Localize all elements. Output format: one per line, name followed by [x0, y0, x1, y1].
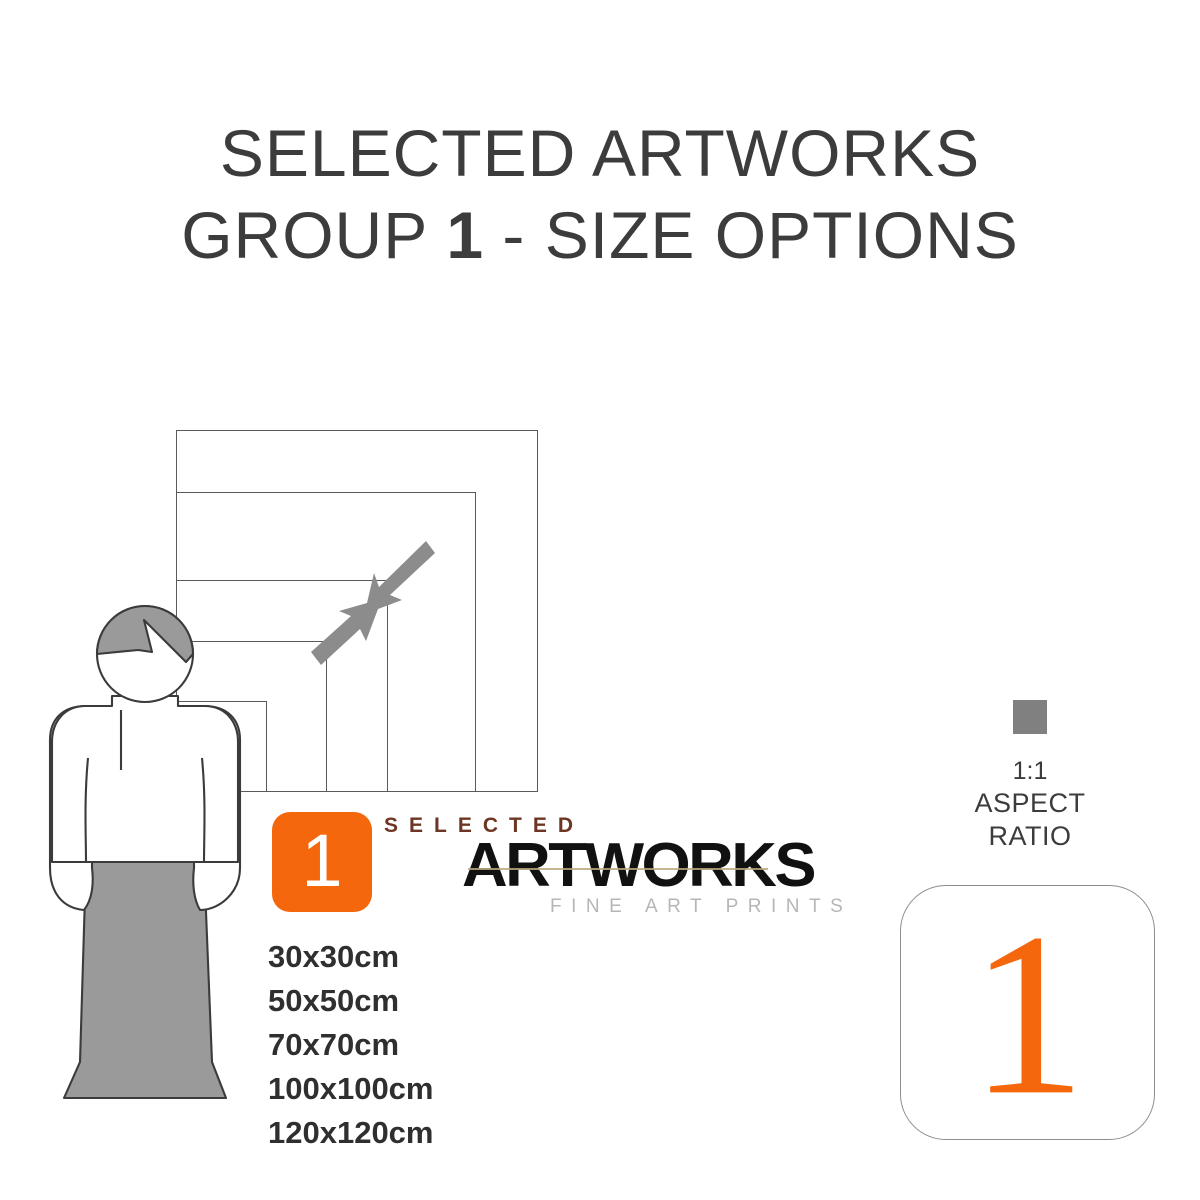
wordmark-strike-line: [468, 868, 768, 870]
size-option-item: 70x70cm: [268, 1023, 598, 1067]
page-title: SELECTED ARTWORKS GROUP 1 - SIZE OPTIONS: [0, 112, 1200, 276]
title-group-suffix: - SIZE OPTIONS: [483, 198, 1019, 272]
aspect-ratio-block: 1:1 ASPECT RATIO: [930, 700, 1130, 853]
figure-torso: [52, 696, 238, 862]
brand-wordmark: SELECTED ARTWORKS FINE ART PRINTS: [380, 810, 830, 930]
group-number-card: 1: [900, 885, 1155, 1140]
group-number-text: 1: [970, 886, 1087, 1139]
wordmark-artworks: ARTWORKS: [462, 830, 814, 901]
title-group-prefix: GROUP: [181, 198, 446, 272]
brand-logo-row: 1 SELECTED ARTWORKS FINE ART PRINTS: [272, 810, 832, 930]
aspect-ratio-value: 1:1: [930, 756, 1130, 787]
size-option-item: 50x50cm: [268, 979, 598, 1023]
group-badge-number: 1: [272, 812, 372, 912]
title-line-2: GROUP 1 - SIZE OPTIONS: [0, 194, 1200, 276]
poster-canvas: SELECTED ARTWORKS GROUP 1 - SIZE OPTIONS: [0, 0, 1200, 1200]
size-option-item: 30x30cm: [268, 935, 598, 979]
group-number-glyph: 1: [901, 886, 1154, 1139]
wordmark-tagline: FINE ART PRINTS: [550, 896, 852, 918]
group-badge: 1: [272, 812, 372, 912]
title-group-number: 1: [446, 198, 483, 272]
size-options-list: 30x30cm 50x50cm 70x70cm 100x100cm 120x12…: [268, 935, 598, 1155]
size-option-item: 120x120cm: [268, 1111, 598, 1155]
size-option-item: 100x100cm: [268, 1067, 598, 1111]
human-scale-figure: [40, 600, 270, 1160]
aspect-ratio-label-2: RATIO: [930, 820, 1130, 853]
aspect-ratio-label-1: ASPECT: [930, 787, 1130, 820]
aspect-ratio-swatch-icon: [1013, 700, 1047, 734]
title-line-1: SELECTED ARTWORKS: [0, 112, 1200, 194]
